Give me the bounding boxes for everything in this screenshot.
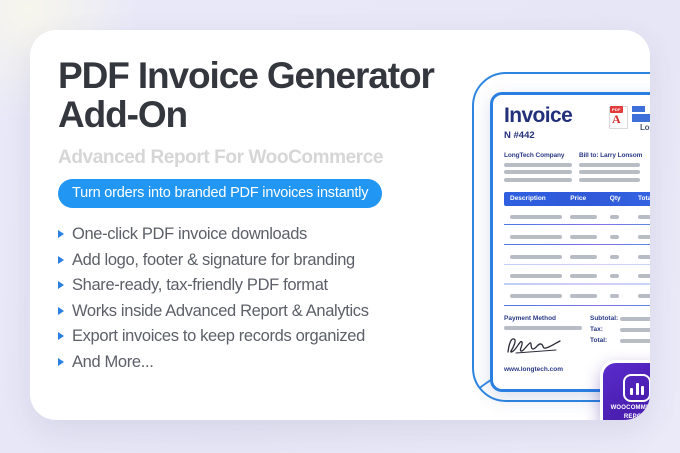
placeholder-bar [620, 328, 650, 332]
total-label: Subtotal: [590, 315, 620, 322]
list-item: One-click PDF invoice downloads [58, 225, 468, 244]
invoice-table-header: Description Price Qty Total [504, 192, 650, 206]
invoice-title-block: Invoice N #442 [504, 105, 572, 141]
invoice-brand-block: A PDF LongTech [609, 106, 650, 132]
placeholder-bar [638, 255, 650, 259]
meta-label: LongTech Company [504, 152, 572, 159]
list-item: Works inside Advanced Report & Analytics [58, 302, 468, 321]
feature-label: Works inside Advanced Report & Analytics [72, 302, 369, 321]
signature [504, 335, 582, 362]
list-item: Add logo, footer & signature for brandin… [58, 251, 468, 270]
table-row [504, 212, 650, 220]
bar-chart-icon [623, 374, 650, 402]
invoice-meta-row: LongTech Company Bill to: Larry Lonsom D… [504, 152, 650, 182]
hero-banner-pill: Turn orders into branded PDF invoices in… [58, 179, 382, 208]
total-row: Subtotal: [590, 315, 650, 322]
invoice-table-body [504, 212, 650, 307]
placeholder-bar [638, 215, 650, 219]
placeholder-bar [610, 215, 619, 219]
triangle-bullet-icon [58, 281, 64, 289]
column-header-total: Total [638, 195, 650, 202]
invoice-mockup: Invoice N #442 A PDF [458, 42, 650, 420]
signature-icon [504, 335, 564, 357]
invoice-preview-sheet: Invoice N #442 A PDF [490, 92, 650, 392]
placeholder-bar [570, 255, 597, 259]
placeholder-bar [570, 274, 597, 278]
payment-method-label: Payment Method [504, 315, 582, 322]
placeholder-bar [504, 178, 572, 182]
badge-line-1: WOOCOMMERCE [611, 405, 650, 411]
total-label: Tax: [590, 326, 620, 333]
longtech-brand-name: LongTech [632, 123, 650, 132]
pdf-label: PDF [610, 106, 623, 113]
page-title: PDF Invoice Generator Add-On [58, 56, 468, 134]
placeholder-bar [510, 255, 562, 259]
list-item: Export invoices to keep records organize… [58, 327, 468, 346]
placeholder-bar [620, 339, 650, 343]
meta-company: LongTech Company [504, 152, 572, 182]
list-item: And More... [58, 353, 468, 372]
column-header-qty: Qty [610, 195, 638, 202]
placeholder-bar [510, 294, 562, 298]
pdf-glyph: A [612, 113, 621, 125]
feature-label: One-click PDF invoice downloads [72, 225, 307, 244]
placeholder-bar [510, 215, 562, 219]
promo-card: PDF Invoice Generator Add-On Advanced Re… [30, 30, 650, 420]
placeholder-bar [638, 274, 650, 278]
placeholder-bar [610, 274, 619, 278]
invoice-number: N #442 [504, 130, 572, 141]
placeholder-bar [504, 163, 572, 167]
placeholder-bar [504, 170, 572, 174]
hero-text-column: PDF Invoice Generator Add-On Advanced Re… [58, 56, 468, 378]
feature-label: And More... [72, 353, 153, 372]
triangle-bullet-icon [58, 332, 64, 340]
placeholder-bar [638, 235, 650, 239]
feature-label: Export invoices to keep records organize… [72, 327, 365, 346]
headline-line-2: Add-On [58, 95, 468, 134]
placeholder-bar [570, 294, 597, 298]
list-item: Share-ready, tax-friendly PDF format [58, 276, 468, 295]
headline-line-1: PDF Invoice Generator [58, 56, 468, 95]
table-row [504, 251, 650, 259]
feature-list: One-click PDF invoice downloads Add logo… [58, 225, 468, 372]
placeholder-bar [610, 255, 619, 259]
feature-label: Share-ready, tax-friendly PDF format [72, 276, 328, 295]
feature-label: Add logo, footer & signature for brandin… [72, 251, 355, 270]
triangle-bullet-icon [58, 256, 64, 264]
meta-billto: Bill to: Larry Lonsom [579, 152, 645, 182]
placeholder-bar [510, 235, 562, 239]
column-header-description: Description [510, 195, 570, 202]
row-divider [504, 264, 650, 265]
badge-line-2: REPORT [624, 414, 650, 420]
total-label: Total: [590, 337, 620, 344]
row-divider [504, 283, 650, 284]
invoice-title: Invoice [504, 105, 572, 126]
hero-subtitle: Advanced Report For WooCommerce [58, 147, 468, 169]
woocommerce-report-badge: WOOCOMMERCE REPORT [600, 360, 650, 420]
column-header-price: Price [570, 195, 610, 202]
invoice-website: www.longtech.com [504, 366, 582, 373]
table-row [504, 291, 650, 299]
invoice-header: Invoice N #442 A PDF [504, 105, 650, 141]
placeholder-bar [579, 178, 640, 182]
row-divider [504, 224, 650, 225]
placeholder-bar [610, 235, 619, 239]
placeholder-bar [504, 326, 582, 330]
placeholder-bar [570, 235, 597, 239]
table-row [504, 231, 650, 239]
payment-method-block: Payment Method www.longtech.com [504, 315, 582, 373]
placeholder-bar [638, 294, 650, 298]
longtech-mark-icon [632, 106, 650, 122]
pdf-file-icon: A PDF [609, 106, 628, 129]
meta-label: Bill to: Larry Lonsom [579, 152, 645, 159]
table-row [504, 271, 650, 279]
total-row: Tax: [590, 326, 650, 333]
placeholder-bar [510, 274, 562, 278]
placeholder-bar [570, 215, 597, 219]
triangle-bullet-icon [58, 230, 64, 238]
triangle-bullet-icon [58, 307, 64, 315]
row-divider [504, 244, 650, 245]
placeholder-bar [579, 170, 640, 174]
total-row: Total: [590, 337, 650, 344]
placeholder-bar [610, 294, 619, 298]
longtech-logo: LongTech [632, 106, 650, 132]
placeholder-bar [620, 317, 650, 321]
placeholder-bar [579, 163, 640, 167]
triangle-bullet-icon [58, 358, 64, 366]
table-bottom-divider [504, 305, 650, 306]
